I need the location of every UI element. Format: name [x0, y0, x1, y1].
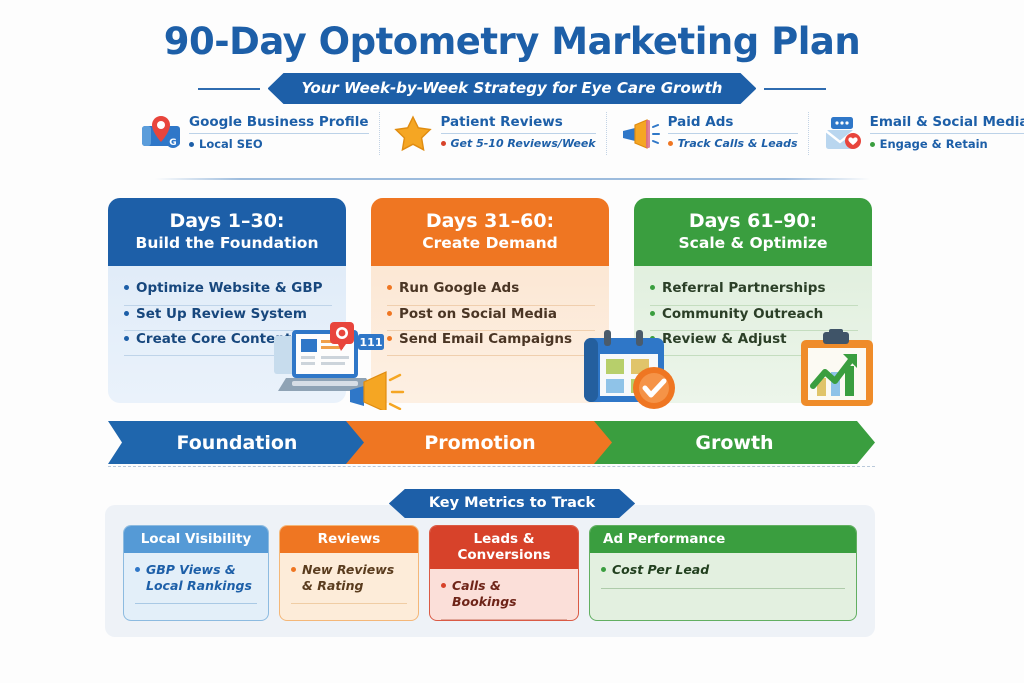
metric-card-body: Calls & Bookings: [430, 569, 578, 620]
star-icon: [392, 113, 434, 155]
phase-arrow-band: Foundation Promotion Growth: [108, 421, 875, 464]
phase-item-label: Post on Social Media: [399, 306, 557, 322]
icon-cell-patient-reviews[interactable]: Patient Reviews Get 5-10 Reviews/Week: [379, 112, 606, 155]
metric-item: New Reviews & Rating: [291, 562, 407, 593]
subtitle-ribbon-row: Your Week-by-Week Strategy for Eye Care …: [0, 73, 1024, 104]
section-divider: [155, 178, 870, 180]
metric-card-title: Ad Performance: [590, 526, 856, 553]
metric-card-leads-conversions[interactable]: Leads & Conversions Calls & Bookings: [429, 525, 579, 621]
phase-card-header: Days 61–90: Scale & Optimize: [634, 198, 872, 266]
metrics-panel: Local Visibility GBP Views & Local Ranki…: [105, 505, 875, 637]
page-title: 90-Day Optometry Marketing Plan: [0, 20, 1024, 63]
metric-card-title: Local Visibility: [124, 526, 268, 553]
icon-underline: [870, 133, 1024, 134]
phase-item[interactable]: Community Outreach: [650, 306, 858, 330]
rule-left: [198, 88, 260, 90]
arrow-foundation[interactable]: Foundation: [108, 421, 366, 464]
bullet-dot: [601, 567, 606, 572]
metric-item: GBP Views & Local Rankings: [135, 562, 257, 593]
metric-item: Calls & Bookings: [441, 578, 567, 609]
svg-text:G: G: [169, 138, 176, 148]
phase-card-promotion[interactable]: Days 31–60: Create Demand Run Google Ads…: [371, 198, 609, 403]
icon-label: Google Business Profile: [189, 114, 369, 130]
metric-card-body: Cost Per Lead: [590, 553, 856, 589]
bullet-dot: [189, 142, 194, 147]
phase-name: Create Demand: [379, 234, 601, 253]
metric-divider: [601, 588, 845, 589]
phase-item[interactable]: Send Email Campaigns: [387, 331, 595, 355]
item-divider: [387, 355, 595, 356]
arrow-promotion[interactable]: Promotion: [346, 421, 614, 464]
phase-card-body: Referral Partnerships Community Outreach…: [634, 266, 872, 356]
bullet-dot: [387, 285, 392, 290]
phase-item-label: Run Google Ads: [399, 280, 519, 296]
phase-item-label: Review & Adjust: [662, 331, 787, 347]
metric-item-label: Cost Per Lead: [612, 562, 709, 578]
metric-card-local-visibility[interactable]: Local Visibility GBP Views & Local Ranki…: [123, 525, 269, 621]
icon-cell-text: Patient Reviews Get 5-10 Reviews/Week: [441, 112, 596, 150]
metric-divider: [291, 603, 407, 604]
bullet-dot: [387, 311, 392, 316]
phase-item-label: Community Outreach: [662, 306, 823, 322]
icon-underline: [668, 133, 798, 134]
item-divider: [124, 355, 332, 356]
icon-label: Email & Social Media: [870, 114, 1024, 130]
bullet-dot: [650, 285, 655, 290]
metric-item-label: GBP Views & Local Rankings: [146, 562, 252, 593]
phase-card-body: Optimize Website & GBP Set Up Review Sys…: [108, 266, 346, 356]
metric-divider: [441, 619, 567, 620]
bullet-dot: [135, 567, 140, 572]
icon-subtext: Get 5-10 Reviews/Week: [451, 137, 596, 150]
phase-card-foundation[interactable]: Days 1–30: Build the Foundation Optimize…: [108, 198, 346, 403]
icon-label: Patient Reviews: [441, 114, 596, 130]
icon-subtext-row: Track Calls & Leads: [668, 137, 798, 150]
icon-subtext: Engage & Retain: [880, 137, 988, 151]
icon-cell-google-business-profile[interactable]: G Google Business Profile Local SEO: [140, 112, 379, 155]
metrics-banner: Key Metrics to Track: [389, 489, 635, 518]
infographic-page: 90-Day Optometry Marketing Plan Your Wee…: [0, 0, 1024, 683]
phase-cards: Days 1–30: Build the Foundation Optimize…: [108, 198, 873, 403]
arrow-growth[interactable]: Growth: [594, 421, 875, 464]
metric-card-title: Reviews: [280, 526, 418, 553]
icon-cell-text: Email & Social Media Engage & Retain: [870, 112, 1024, 151]
metric-item-label: Calls & Bookings: [452, 578, 567, 609]
icon-underline: [189, 133, 369, 134]
rule-right: [764, 88, 826, 90]
phase-item[interactable]: Review & Adjust: [650, 331, 858, 355]
phase-card-growth[interactable]: Days 61–90: Scale & Optimize Referral Pa…: [634, 198, 872, 403]
metric-item-label: New Reviews & Rating: [302, 562, 394, 593]
phase-name: Build the Foundation: [116, 234, 338, 253]
megaphone-icon: [619, 113, 661, 155]
bullet-dot: [124, 336, 129, 341]
phase-name: Scale & Optimize: [642, 234, 864, 253]
phase-item[interactable]: Run Google Ads: [387, 280, 595, 304]
icon-cell-text: Paid Ads Track Calls & Leads: [668, 112, 798, 150]
bullet-dot: [668, 141, 673, 146]
phase-item-label: Referral Partnerships: [662, 280, 825, 296]
phase-item[interactable]: Referral Partnerships: [650, 280, 858, 304]
phase-item[interactable]: Set Up Review System: [124, 306, 332, 330]
arrow-dashed-underline: [108, 466, 875, 467]
icon-cell-paid-ads[interactable]: Paid Ads Track Calls & Leads: [606, 112, 808, 155]
icon-subtext: Local SEO: [199, 137, 263, 151]
bullet-dot: [870, 142, 875, 147]
icon-cell-text: Google Business Profile Local SEO: [189, 112, 369, 151]
bullet-dot: [650, 311, 655, 316]
phase-item[interactable]: Create Core Content: [124, 331, 332, 355]
email-heart-icon: [821, 113, 863, 155]
phase-item-label: Send Email Campaigns: [399, 331, 572, 347]
icon-subtext-row: Get 5-10 Reviews/Week: [441, 137, 596, 150]
bullet-dot: [291, 567, 296, 572]
icon-subtext-row: Engage & Retain: [870, 137, 1024, 151]
phase-item-label: Optimize Website & GBP: [136, 280, 323, 296]
icon-label: Paid Ads: [668, 114, 798, 130]
bullet-dot: [124, 285, 129, 290]
google-business-profile-pin-icon: G: [140, 113, 182, 155]
bullet-dot: [387, 336, 392, 341]
subtitle-ribbon: Your Week-by-Week Strategy for Eye Care …: [268, 73, 757, 104]
metric-divider: [135, 603, 257, 604]
phase-item[interactable]: Optimize Website & GBP: [124, 280, 332, 304]
phase-card-header: Days 31–60: Create Demand: [371, 198, 609, 266]
metric-card-reviews[interactable]: Reviews New Reviews & Rating: [279, 525, 419, 621]
bullet-dot: [124, 311, 129, 316]
metric-card-body: GBP Views & Local Rankings: [124, 553, 268, 604]
item-divider: [650, 355, 858, 356]
phase-card-header: Days 1–30: Build the Foundation: [108, 198, 346, 266]
phase-item[interactable]: Post on Social Media: [387, 306, 595, 330]
metrics-card-row: Local Visibility GBP Views & Local Ranki…: [123, 525, 857, 621]
icon-underline: [441, 133, 596, 134]
phase-item-label: Create Core Content: [136, 331, 291, 347]
bullet-dot: [441, 141, 446, 146]
icon-subtext-row: Local SEO: [189, 137, 369, 151]
metric-card-title: Leads & Conversions: [430, 526, 578, 569]
phase-card-body: Run Google Ads Post on Social Media Send…: [371, 266, 609, 356]
phase-days: Days 61–90:: [642, 211, 864, 233]
icon-row: G Google Business Profile Local SEO Pati…: [140, 112, 884, 168]
metric-card-body: New Reviews & Rating: [280, 553, 418, 604]
metrics-banner-wrap: Key Metrics to Track: [0, 489, 1024, 518]
metric-card-ad-performance[interactable]: Ad Performance Cost Per Lead: [589, 525, 857, 621]
bullet-dot: [650, 336, 655, 341]
phase-days: Days 1–30:: [116, 211, 338, 233]
icon-subtext: Track Calls & Leads: [678, 137, 798, 150]
metric-item: Cost Per Lead: [601, 562, 845, 578]
icon-cell-email-social-media[interactable]: Email & Social Media Engage & Retain: [808, 112, 1024, 155]
bullet-dot: [441, 583, 446, 588]
phase-item-label: Set Up Review System: [136, 306, 307, 322]
phase-days: Days 31–60:: [379, 211, 601, 233]
